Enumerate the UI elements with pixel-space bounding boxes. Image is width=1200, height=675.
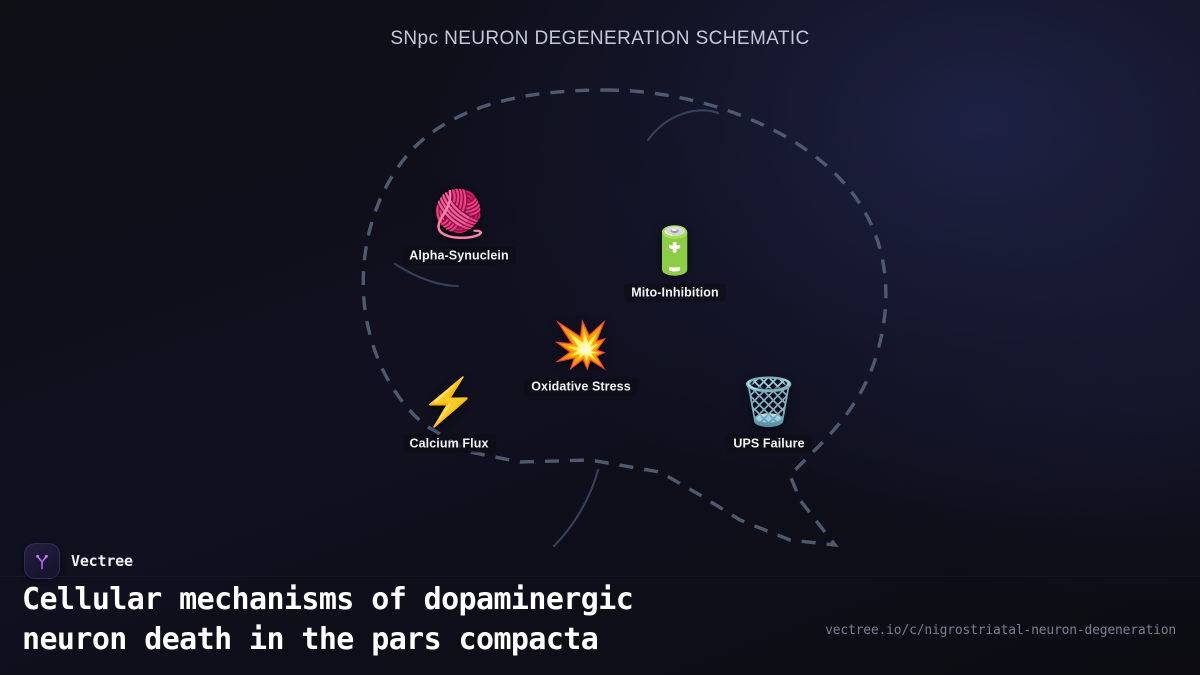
headline-line-1: Cellular mechanisms of dopaminergic [22,580,792,620]
node-alpha-synuclein[interactable]: 🧶 Alpha-Synuclein [374,188,544,265]
node-ups-failure[interactable]: 🗑️ UPS Failure [684,376,854,453]
node-mito-inhibition[interactable]: 🔋 Mito-Inhibition [590,225,760,302]
brand-row[interactable]: Vectree [24,543,133,579]
dendrite-arc-top [648,110,718,140]
neuron-soma-dashed-outline [363,90,886,545]
battery-icon: 🔋 [646,225,703,277]
node-calcium-flux[interactable]: ⚡ Calcium Flux [364,376,534,453]
high-voltage-icon: ⚡ [420,376,477,428]
headline-line-2: neuron death in the pars compacta [22,620,792,660]
node-label: Mito-Inhibition [624,284,726,302]
schematic-canvas: SNpc NEURON DEGENERATION SCHEMATIC 🧶 Alp… [0,0,1200,675]
node-label: Calcium Flux [403,435,496,453]
page-title: SNpc NEURON DEGENERATION SCHEMATIC [0,28,1200,50]
headline: Cellular mechanisms of dopaminergic neur… [22,580,792,659]
brand-name: Vectree [71,552,133,570]
source-url: vectree.io/c/nigrostriatal-neuron-degene… [825,623,1176,638]
node-label: Alpha-Synuclein [402,247,515,265]
footer-divider [0,576,1200,577]
wastebasket-icon: 🗑️ [740,376,797,428]
explosion-icon: 💥 [552,319,609,371]
vectree-logo-icon [24,543,60,579]
node-label: Oxidative Stress [524,378,638,396]
vectree-tree-glyph [32,551,52,571]
node-label: UPS Failure [726,435,811,453]
dendrite-arc-left [395,264,458,286]
yarn-ball-icon: 🧶 [430,188,487,240]
dendrite-arc-bottom [554,470,598,546]
